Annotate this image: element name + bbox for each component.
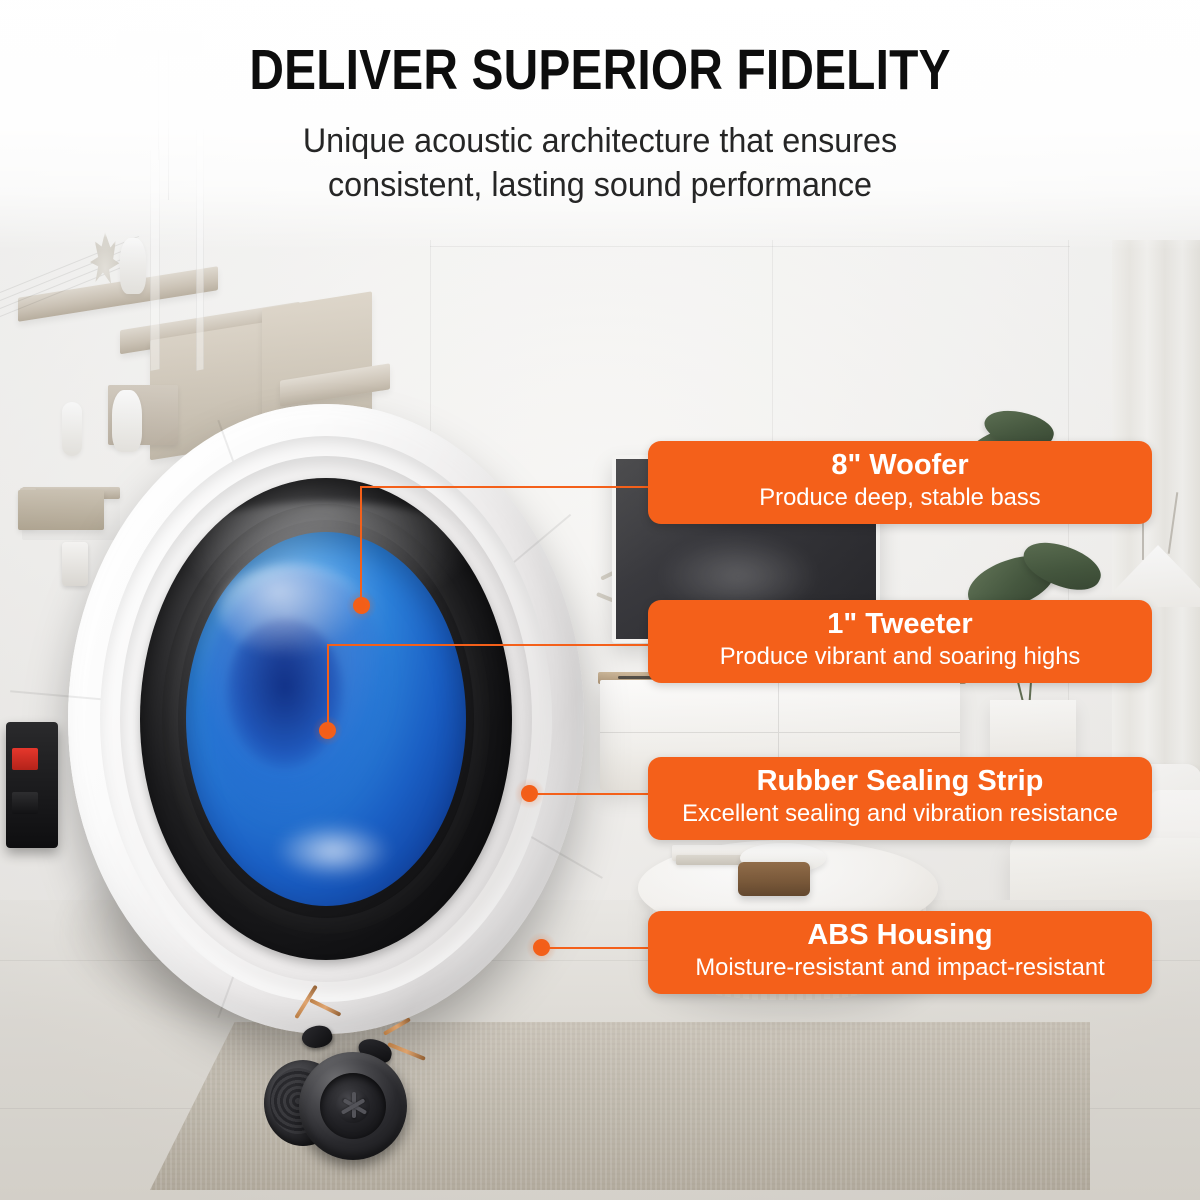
cone-gloss-highlight [274, 822, 392, 880]
page-subtitle-line-2: consistent, lasting sound performance [30, 163, 1170, 207]
table-wood-object [738, 862, 810, 896]
console-seam [778, 680, 779, 732]
terminal-positive-red [12, 748, 38, 770]
page-subtitle: Unique acoustic architecture that ensure… [30, 119, 1170, 207]
callout-woofer-title: 8" Woofer [664, 450, 1136, 481]
header-block: DELIVER SUPERIOR FIDELITY Unique acousti… [0, 42, 1200, 207]
product-feature-banner: DELIVER SUPERIOR FIDELITY Unique acousti… [0, 0, 1200, 1200]
leader-line-housing [540, 947, 654, 949]
callout-tweeter-desc: Produce vibrant and soaring highs [666, 643, 1133, 671]
page-title: DELIVER SUPERIOR FIDELITY [96, 42, 1104, 99]
callout-woofer[interactable]: 8" Woofer Produce deep, stable bass [648, 441, 1152, 524]
housing-mount-clip [62, 542, 88, 586]
callout-abs-housing[interactable]: ABS Housing Moisture-resistant and impac… [648, 911, 1152, 994]
hotspot-dot-housing[interactable] [533, 939, 550, 956]
callout-woofer-desc: Produce deep, stable bass [666, 484, 1133, 512]
terminal-negative-black [12, 792, 38, 814]
hotspot-dot-woofer[interactable] [353, 597, 370, 614]
hotspot-dot-tweeter[interactable] [319, 722, 336, 739]
leader-line-tweeter-horizontal [327, 644, 652, 646]
callout-tweeter[interactable]: 1" Tweeter Produce vibrant and soaring h… [648, 600, 1152, 683]
callout-tweeter-title: 1" Tweeter [664, 609, 1136, 640]
console-seam [600, 732, 960, 733]
wall-panel-top-seam [430, 246, 1070, 247]
leader-line-woofer-horizontal [360, 486, 652, 488]
leader-line-woofer-vertical [360, 487, 362, 605]
cone-gloss-highlight [218, 564, 368, 656]
speaker-terminal-block [6, 722, 58, 848]
callout-housing-desc: Moisture-resistant and impact-resistant [666, 954, 1133, 982]
callout-sealing-desc: Excellent sealing and vibration resistan… [666, 800, 1133, 828]
callout-housing-title: ABS Housing [664, 920, 1136, 951]
decor-vase [120, 238, 146, 294]
leader-line-sealing [528, 793, 654, 795]
callout-sealing-strip[interactable]: Rubber Sealing Strip Excellent sealing a… [648, 757, 1152, 840]
callout-sealing-title: Rubber Sealing Strip [664, 766, 1136, 797]
hotspot-dot-sealing[interactable] [521, 785, 538, 802]
page-subtitle-line-1: Unique acoustic architecture that ensure… [30, 119, 1170, 163]
